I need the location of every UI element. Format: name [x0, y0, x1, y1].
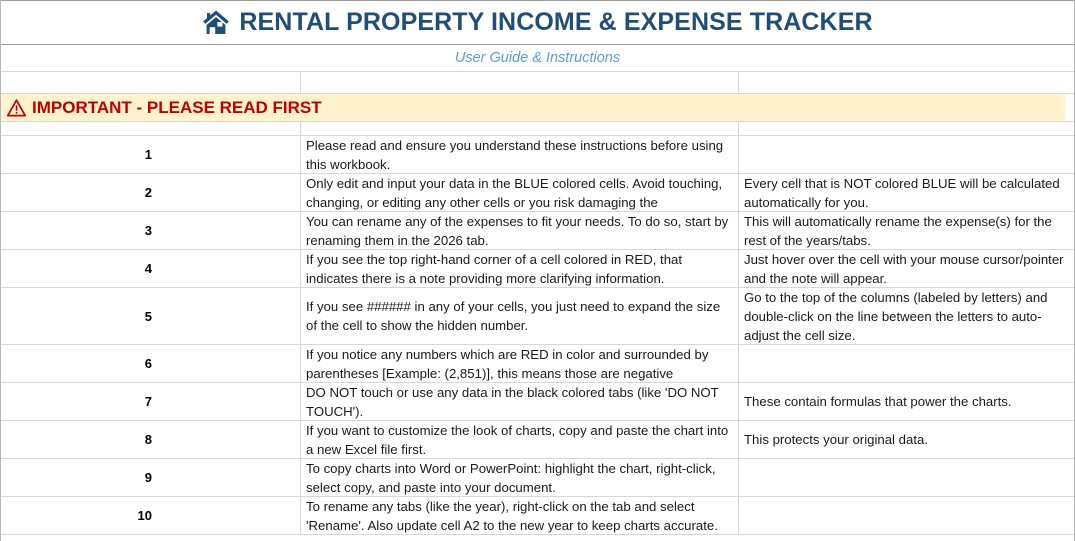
instruction-text: Only edit and input your data in the BLU… — [306, 174, 732, 211]
row-note — [739, 136, 1074, 173]
table-row: 7 DO NOT touch or use any data in the bl… — [1, 383, 1074, 421]
warning-triangle-icon — [7, 99, 26, 117]
table-row: 1 Please read and ensure you understand … — [1, 136, 1074, 174]
row-note: Go to the top of the columns (labeled by… — [739, 288, 1074, 344]
row-instruction: If you see ###### in any of your cells, … — [301, 288, 739, 344]
table-row: 5 If you see ###### in any of your cells… — [1, 288, 1074, 345]
instruction-text: You can rename any of the expenses to fi… — [306, 212, 732, 249]
row-number: 5 — [1, 288, 301, 344]
instruction-text: If you see the top right-hand corner of … — [306, 250, 732, 287]
table-row: 4 If you see the top right-hand corner o… — [1, 250, 1074, 288]
note-text: This protects your original data. — [744, 430, 928, 449]
spacer-cell-b — [301, 72, 739, 93]
instruction-text: DO NOT touch or use any data in the blac… — [306, 383, 732, 420]
row-number: 10 — [1, 497, 301, 534]
title-wrap: RENTAL PROPERTY INCOME & EXPENSE TRACKER — [202, 8, 872, 37]
row-note: This protects your original data. — [739, 421, 1074, 458]
blank-cell-a — [1, 122, 301, 135]
row-instruction: If you want to customize the look of cha… — [301, 421, 739, 458]
row-instruction: If you notice any numbers which are RED … — [301, 345, 739, 382]
spacer-cell-c — [739, 72, 1074, 93]
instruction-text: To copy charts into Word or PowerPoint: … — [306, 459, 732, 496]
banner-content: IMPORTANT - PLEASE READ FIRST — [1, 94, 322, 121]
instruction-text: If you see ###### in any of your cells, … — [306, 297, 732, 335]
row-number: 8 — [1, 421, 301, 458]
important-banner: IMPORTANT - PLEASE READ FIRST — [1, 94, 1074, 122]
instruction-text: If you notice any numbers which are RED … — [306, 345, 732, 382]
subtitle-row: User Guide & Instructions — [1, 45, 1074, 72]
instruction-text: Please read and ensure you understand th… — [306, 136, 732, 173]
table-row: 10 To rename any tabs (like the year), r… — [1, 497, 1074, 535]
row-number: 9 — [1, 459, 301, 496]
row-number: 6 — [1, 345, 301, 382]
table-row: 6 If you notice any numbers which are RE… — [1, 345, 1074, 383]
row-number: 3 — [1, 212, 301, 249]
page-title: RENTAL PROPERTY INCOME & EXPENSE TRACKER — [239, 8, 872, 37]
row-instruction: Only edit and input your data in the BLU… — [301, 174, 739, 211]
note-text: Go to the top of the columns (labeled by… — [744, 288, 1068, 344]
note-text: Just hover over the cell with your mouse… — [744, 250, 1068, 287]
blank-cell-c — [739, 122, 1074, 135]
row-note — [739, 459, 1074, 496]
row-number: 1 — [1, 136, 301, 173]
instruction-text: To rename any tabs (like the year), righ… — [306, 497, 732, 534]
worksheet: RENTAL PROPERTY INCOME & EXPENSE TRACKER… — [0, 0, 1075, 541]
row-number: 2 — [1, 174, 301, 211]
table-row: 2 Only edit and input your data in the B… — [1, 174, 1074, 212]
row-instruction: DO NOT touch or use any data in the blac… — [301, 383, 739, 420]
spacer-cell-a — [1, 72, 301, 93]
page-subtitle: User Guide & Instructions — [455, 50, 620, 66]
row-instruction: If you see the top right-hand corner of … — [301, 250, 739, 287]
row-instruction: Please read and ensure you understand th… — [301, 136, 739, 173]
row-note: Every cell that is NOT colored BLUE will… — [739, 174, 1074, 211]
table-row: 8 If you want to customize the look of c… — [1, 421, 1074, 459]
note-text: Every cell that is NOT colored BLUE will… — [744, 174, 1068, 211]
row-note: Just hover over the cell with your mouse… — [739, 250, 1074, 287]
row-note — [739, 345, 1074, 382]
row-note — [739, 497, 1074, 534]
note-text: This will automatically rename the expen… — [744, 212, 1068, 249]
house-icon — [202, 9, 230, 36]
row-note: These contain formulas that power the ch… — [739, 383, 1074, 420]
row-note: This will automatically rename the expen… — [739, 212, 1074, 249]
row-instruction: To copy charts into Word or PowerPoint: … — [301, 459, 739, 496]
title-row: RENTAL PROPERTY INCOME & EXPENSE TRACKER — [1, 0, 1074, 45]
blank-cell-b — [301, 122, 739, 135]
spacer-row — [1, 72, 1074, 94]
instruction-text: If you want to customize the look of cha… — [306, 421, 732, 458]
row-instruction: You can rename any of the expenses to fi… — [301, 212, 739, 249]
row-number: 7 — [1, 383, 301, 420]
note-text: These contain formulas that power the ch… — [744, 392, 1012, 411]
table-row: 9 To copy charts into Word or PowerPoint… — [1, 459, 1074, 497]
table-row: 3 You can rename any of the expenses to … — [1, 212, 1074, 250]
row-number: 4 — [1, 250, 301, 287]
blank-row — [1, 122, 1074, 136]
row-instruction: To rename any tabs (like the year), righ… — [301, 497, 739, 534]
banner-label: IMPORTANT - PLEASE READ FIRST — [32, 98, 322, 118]
